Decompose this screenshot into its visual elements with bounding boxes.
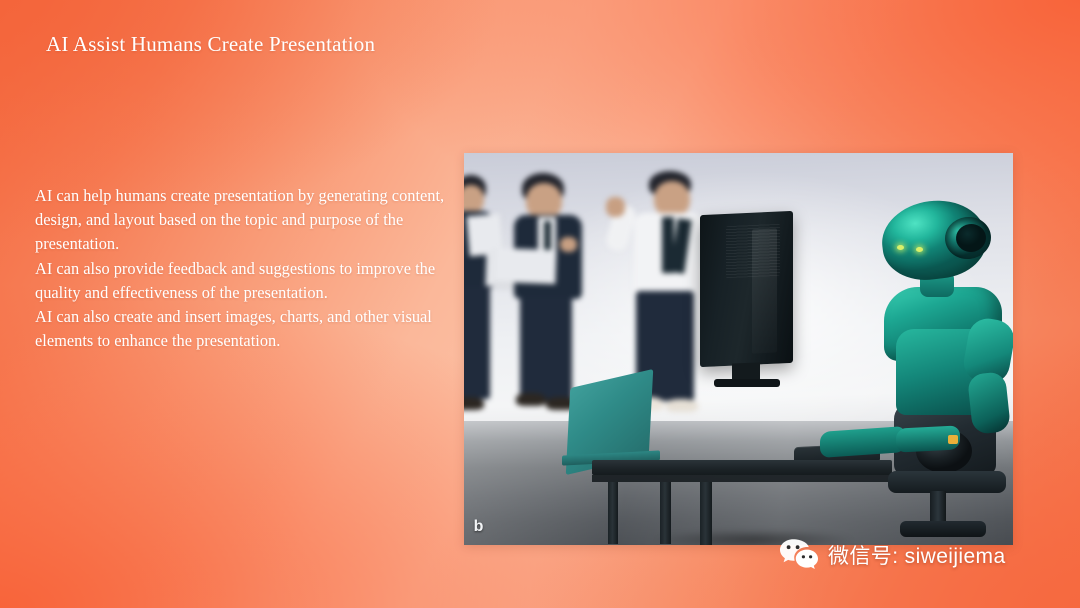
photo-robot-indicator — [948, 435, 958, 444]
body-paragraph-1: AI can help humans create presentation b… — [35, 184, 447, 257]
photo-robot — [862, 191, 1013, 545]
photo-robot-eye-left — [897, 245, 904, 250]
slide-title: AI Assist Humans Create Presentation — [46, 31, 375, 57]
slide-image: b — [464, 153, 1013, 545]
photo-monitor-base — [714, 379, 780, 387]
wechat-icon — [779, 538, 819, 572]
body-paragraph-3: AI can also create and insert images, ch… — [35, 305, 447, 353]
photo-desk-leg-2 — [660, 482, 671, 544]
photo-desk-top — [592, 460, 892, 475]
photo-desk-edge — [592, 475, 892, 482]
photo-robot-hand-left — [820, 426, 906, 458]
photo-monitor-panel — [752, 228, 777, 353]
body-paragraph-2: AI can also provide feedback and suggest… — [35, 257, 447, 305]
bing-image-creator-logo: b — [470, 517, 487, 537]
photo-desk-leg-3 — [700, 482, 712, 545]
photo-robot-forearm — [967, 371, 1011, 435]
presentation-slide: AI Assist Humans Create Presentation AI … — [0, 0, 1080, 608]
photo-desk-leg-1 — [608, 482, 618, 544]
wechat-watermark: 微信号: siweijiema — [779, 538, 1006, 572]
photo-robot-eye-right — [916, 247, 923, 252]
slide-body-text: AI can help humans create presentation b… — [35, 184, 447, 353]
wechat-id-text: 微信号: siweijiema — [828, 540, 1006, 570]
